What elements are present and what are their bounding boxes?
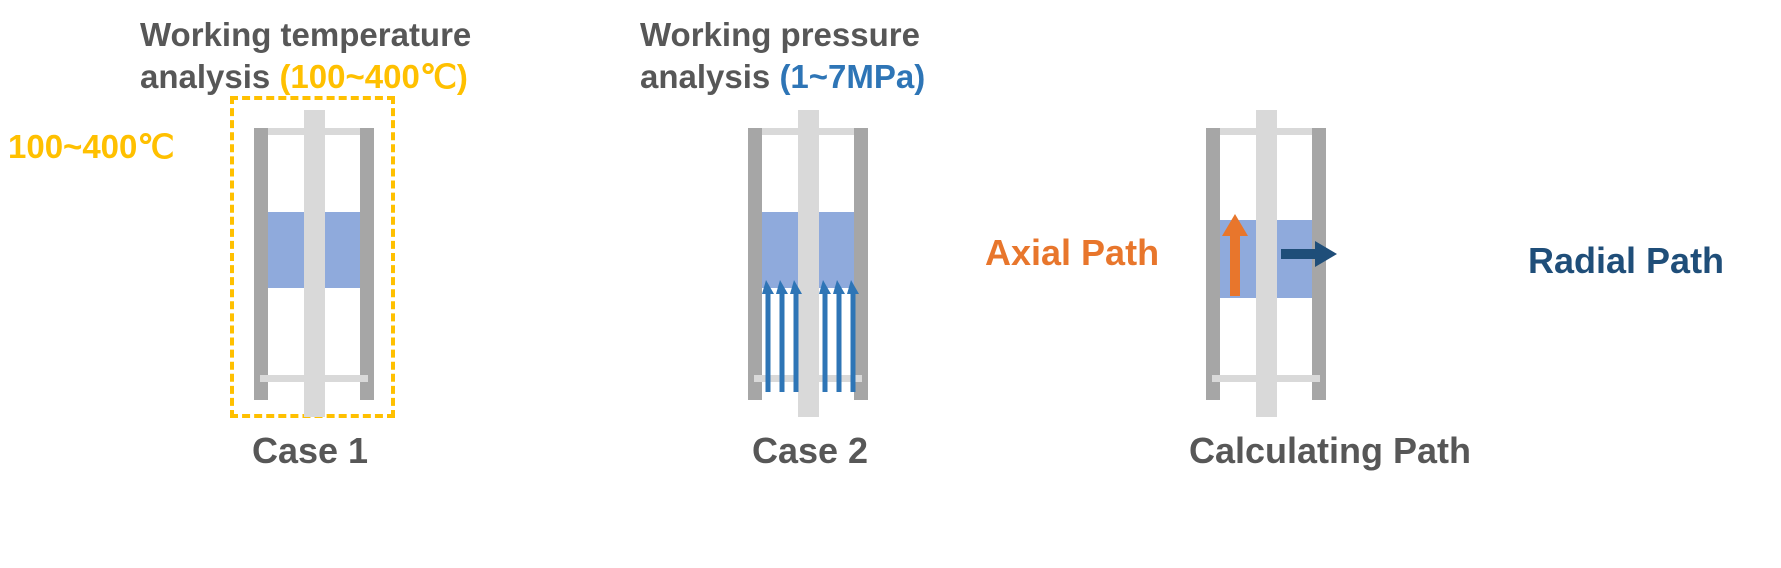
vessel-wall-right (360, 128, 374, 400)
vessel-top-cap (754, 128, 862, 135)
vessel-wall-left (1206, 128, 1220, 400)
pressure-flow-arrows-right (819, 280, 859, 392)
vessel-wall-left (254, 128, 268, 400)
caption-case1: Case 1 (180, 430, 440, 472)
radial-path-arrow-icon (1281, 240, 1337, 268)
radial-path-label: Radial Path (1528, 240, 1724, 282)
vessel-bottom-cap (260, 375, 368, 382)
caption-case3: Calculating Path (1130, 430, 1530, 472)
center-rod (1256, 110, 1277, 417)
center-rod (304, 110, 325, 417)
diagram-canvas: Working temperature analysis (100~400℃) … (0, 0, 1781, 568)
liquid-left (268, 212, 304, 288)
title-range-highlight: (100~400℃) (279, 58, 467, 95)
title-line-2: analysis (1~7MPa) (640, 56, 925, 98)
title-prefix: analysis (640, 58, 779, 95)
title-line-2: analysis (100~400℃) (140, 56, 471, 98)
vessel-case1 (254, 110, 374, 400)
pressure-flow-arrows-left (762, 280, 802, 392)
liquid-right (325, 212, 360, 288)
vessel-wall-left (748, 128, 762, 400)
panel-title-case2: Working pressure analysis (1~7MPa) (640, 14, 925, 98)
title-line-1: Working temperature (140, 14, 471, 56)
caption-case2: Case 2 (680, 430, 940, 472)
title-prefix: analysis (140, 58, 279, 95)
vessel-bottom-cap (1212, 375, 1320, 382)
liquid-right (819, 212, 854, 288)
temperature-annotation: 100~400℃ (8, 127, 174, 166)
vessel-top-cap (1212, 128, 1320, 135)
panel-title-case1: Working temperature analysis (100~400℃) (140, 14, 471, 98)
axial-path-arrow-icon (1222, 214, 1248, 296)
vessel-top-cap (260, 128, 368, 135)
title-line-1: Working pressure (640, 14, 925, 56)
title-range-highlight: (1~7MPa) (779, 58, 925, 95)
axial-path-label: Axial Path (985, 232, 1159, 274)
liquid-left (762, 212, 798, 288)
